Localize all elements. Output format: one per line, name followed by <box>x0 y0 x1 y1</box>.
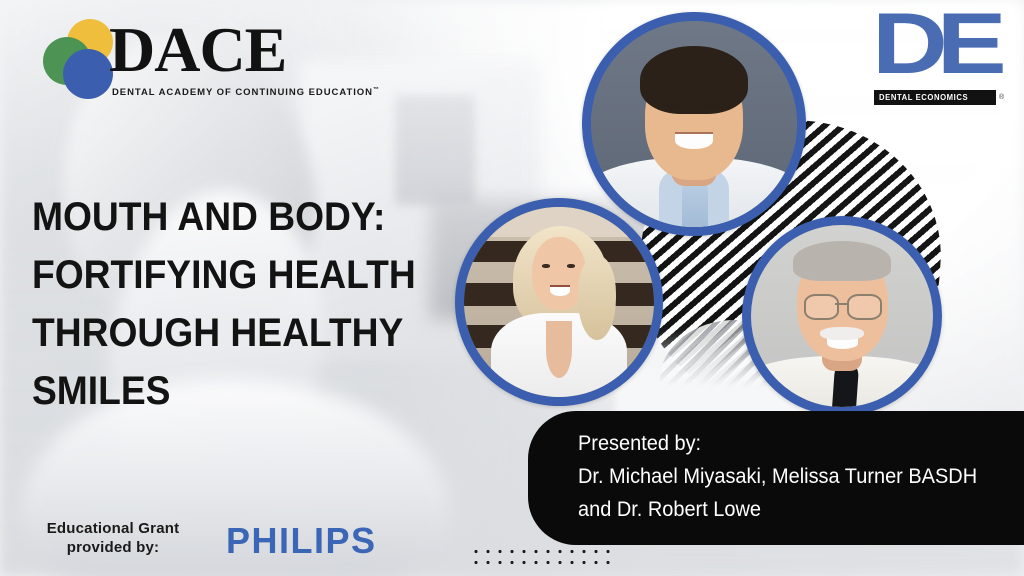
de-registered-mark: ® <box>999 94 1004 101</box>
educational-grant-label: Educational Grant provided by: <box>28 519 198 557</box>
grant-line-2: provided by: <box>28 538 198 557</box>
dace-tagline-text: DENTAL ACADEMY OF CONTINUING EDUCATION <box>112 87 373 98</box>
headshot-robert-lowe <box>742 216 942 416</box>
title-line-1: MOUTH AND BODY: <box>32 188 423 246</box>
title-line-4: SMILES <box>32 362 423 420</box>
presenter-line-1: Dr. Michael Miyasaki, Melissa Turner BAS… <box>578 460 988 493</box>
title-line-2: FORTIFYING HEALTH <box>32 246 423 304</box>
dace-tagline: DENTAL ACADEMY OF CONTINUING EDUCATION™ <box>112 87 379 98</box>
portrait-2-hair-side <box>578 256 616 340</box>
portrait-3-hair <box>793 241 891 281</box>
dot-grid-decoration <box>470 546 618 568</box>
title-line-3: THROUGH HEALTHY <box>32 304 423 362</box>
dace-circles-icon <box>33 19 117 99</box>
portrait-image-1 <box>591 21 797 227</box>
portrait-1-brow-right <box>702 93 721 98</box>
de-black-bar: DENTAL ECONOMICS <box>874 90 996 105</box>
grant-line-1: Educational Grant <box>28 519 198 538</box>
dace-blue-circle-icon <box>63 49 113 99</box>
portrait-3-glasses-left <box>804 294 839 320</box>
portrait-1-eye-left <box>665 103 679 109</box>
de-wordmark: DE <box>872 0 996 94</box>
dace-trademark: ™ <box>373 87 379 93</box>
dace-wordmark: DACE <box>109 15 286 85</box>
de-bar-label: DENTAL ECONOMICS <box>879 93 968 102</box>
portrait-3-glasses-bridge <box>835 303 848 305</box>
headshot-melissa-turner <box>455 198 663 406</box>
portrait-2-neckline <box>546 321 573 378</box>
portrait-image-2 <box>464 207 654 397</box>
portrait-1-brow-left <box>663 93 682 98</box>
portrait-1-hair <box>640 46 747 114</box>
portrait-2-eye-right <box>567 264 576 268</box>
slide-title: MOUTH AND BODY: FORTIFYING HEALTH THROUG… <box>32 188 423 420</box>
portrait-3-glasses-right <box>847 294 882 320</box>
webinar-title-slide: DACE DENTAL ACADEMY OF CONTINUING EDUCAT… <box>0 0 1024 576</box>
dace-logo: DACE DENTAL ACADEMY OF CONTINUING EDUCAT… <box>33 17 353 109</box>
portrait-1-tie <box>682 182 709 236</box>
portrait-3-tie <box>831 366 858 416</box>
philips-logo: PHILIPS <box>226 521 377 561</box>
presenter-line-2: and Dr. Robert Lowe <box>578 493 988 526</box>
portrait-image-3 <box>751 225 933 407</box>
presenters-panel: Presented by: Dr. Michael Miyasaki, Meli… <box>528 411 1024 545</box>
portrait-1-eye-right <box>704 103 718 109</box>
presented-by-label: Presented by: <box>578 427 988 460</box>
portrait-1-smile <box>675 132 712 148</box>
headshot-michael-miyasaki <box>582 12 806 236</box>
dental-economics-logo: DE DENTAL ECONOMICS ® <box>872 8 1002 108</box>
presenters-text: Presented by: Dr. Michael Miyasaki, Meli… <box>578 427 988 526</box>
portrait-3-moustache <box>820 327 864 340</box>
